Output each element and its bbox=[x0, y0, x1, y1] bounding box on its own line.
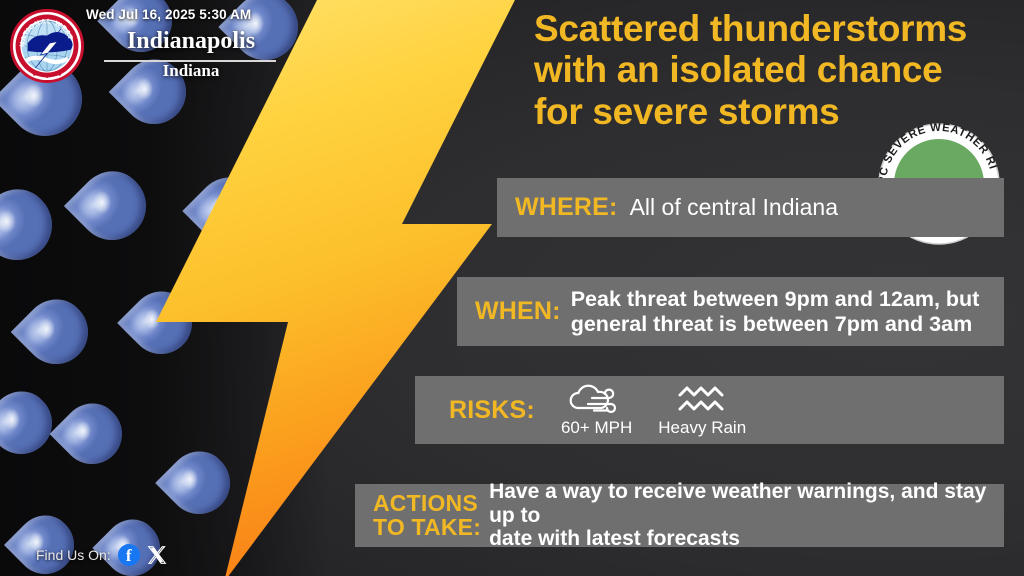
heavy-rain-waves-icon bbox=[676, 383, 728, 417]
find-us-on-label: Find Us On: bbox=[36, 547, 111, 563]
when-label: WHEN: bbox=[475, 297, 561, 326]
national-weather-service-seal: NATIONAL WEATHER SERVICE bbox=[10, 9, 84, 83]
risk-item-wind: 60+ MPH bbox=[561, 383, 632, 438]
headline-line-2: with an isolated chance bbox=[534, 49, 1004, 90]
wind-cloud-icon bbox=[568, 383, 626, 417]
where-bar: WHERE: All of central Indiana bbox=[497, 178, 1004, 237]
where-value: All of central Indiana bbox=[630, 194, 1004, 221]
state-name: Indiana bbox=[86, 61, 296, 81]
actions-label: ACTIONS TO TAKE: bbox=[373, 492, 481, 540]
actions-value: Have a way to receive weather warnings, … bbox=[489, 480, 994, 551]
risk-caption: 60+ MPH bbox=[561, 418, 632, 438]
timestamp: Wed Jul 16, 2025 5:30 AM bbox=[86, 7, 251, 22]
when-value: Peak threat between 9pm and 12am, but ge… bbox=[571, 287, 990, 335]
actions-label-line-1: ACTIONS bbox=[373, 492, 481, 516]
weather-graphic: NATIONAL WEATHER SERVICE Wed Jul 16, 202… bbox=[0, 0, 1024, 576]
risk-items: 60+ MPH Heavy Rain bbox=[561, 383, 746, 438]
risk-caption: Heavy Rain bbox=[658, 418, 746, 438]
actions-label-line-2: TO TAKE: bbox=[373, 516, 481, 540]
city-name: Indianapolis bbox=[86, 28, 296, 55]
risks-label: RISKS: bbox=[449, 396, 535, 425]
actions-value-line-1: Have a way to receive weather warnings, … bbox=[489, 480, 994, 527]
when-bar: WHEN: Peak threat between 9pm and 12am, … bbox=[457, 277, 1004, 346]
actions-bar: ACTIONS TO TAKE: Have a way to receive w… bbox=[355, 484, 1004, 547]
where-label: WHERE: bbox=[515, 193, 618, 222]
headline: Scattered thunderstorms with an isolated… bbox=[534, 8, 1004, 132]
when-value-line-2: general threat is between 7pm and 3am bbox=[571, 312, 990, 336]
when-value-line-1: Peak threat between 9pm and 12am, but bbox=[571, 287, 990, 311]
headline-line-1: Scattered thunderstorms bbox=[534, 8, 1004, 49]
facebook-glyph: f bbox=[126, 547, 132, 564]
risks-bar: RISKS: 60+ MPH bbox=[415, 376, 1004, 444]
facebook-icon[interactable]: f bbox=[118, 544, 140, 566]
x-twitter-icon[interactable] bbox=[147, 545, 167, 565]
actions-value-line-2: date with latest forecasts bbox=[489, 527, 994, 551]
footer: Find Us On: f bbox=[36, 544, 167, 566]
risk-item-rain: Heavy Rain bbox=[658, 383, 746, 438]
